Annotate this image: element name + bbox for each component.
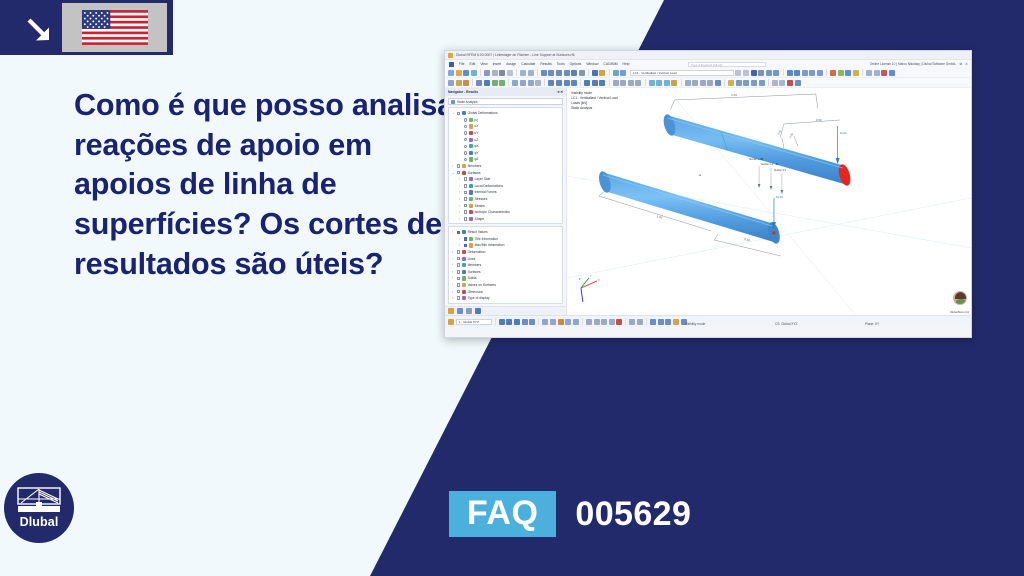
tree-item[interactable]: ›Result Values: [449, 229, 562, 236]
tree-item-icon: [469, 204, 473, 208]
window-controls[interactable]: — ⧉ ✕: [953, 62, 969, 66]
app-icon: [448, 53, 453, 58]
toolbar-icon-pan[interactable]: [773, 70, 779, 76]
tree-checkbox[interactable]: [464, 244, 468, 248]
tree-item[interactable]: φY: [449, 150, 562, 157]
tree-item[interactable]: ›Support Reactions: [449, 222, 562, 224]
tree-checkbox[interactable]: [457, 231, 461, 235]
toolbar-icon-list[interactable]: [556, 70, 562, 76]
tree-radio[interactable]: [464, 138, 467, 141]
menu-item-options[interactable]: Options: [570, 62, 582, 66]
toolbar-icon-iso[interactable]: [802, 70, 808, 76]
chevron-right-icon[interactable]: ›: [452, 276, 455, 280]
status-icon-select[interactable]: [558, 319, 564, 325]
navigator-panel: Navigator - Results ⇥ ✕ Static Analysis …: [445, 88, 567, 315]
tree-item[interactable]: ›Lines: [449, 255, 562, 262]
status-mode-label: Visibility mode: [685, 322, 705, 326]
toolbar2-icon-loadsurface[interactable]: [564, 80, 570, 86]
toolbar2-icon-info[interactable]: [795, 80, 801, 86]
tree-item-label: Stresses: [475, 197, 488, 201]
svg-text:1a: 1a: [698, 173, 701, 177]
tree-item-label: uZ: [474, 138, 478, 142]
toolbar2-icon-circle[interactable]: [772, 80, 778, 86]
status-icon-nurbs[interactable]: [609, 319, 615, 325]
toolbar2-icon-annotation[interactable]: [620, 80, 626, 86]
menu-item-window[interactable]: Window: [586, 62, 598, 66]
navigator-pin-close[interactable]: ⇥ ✕: [557, 90, 563, 94]
toolbar-separator: [544, 79, 545, 86]
avatar-caption: Dlubal Menu [m]: [950, 311, 969, 314]
toolbar-icon-front[interactable]: [817, 70, 823, 76]
toolbar-icon-settings[interactable]: [579, 70, 585, 76]
toolbar-icon-printout[interactable]: [571, 70, 577, 76]
toolbar-separator: [862, 69, 863, 76]
app-title: Dlubal RFEM 6.00.0007 | Linienlager an F…: [456, 53, 575, 57]
svg-text:X: X: [598, 278, 600, 282]
toolbar-icon-render[interactable]: [751, 70, 757, 76]
status-icon-snap[interactable]: [499, 319, 505, 325]
tree-item[interactable]: ›Type of display: [449, 295, 562, 302]
menu-item-results[interactable]: Results: [540, 62, 551, 66]
chevron-down-icon[interactable]: ⌄: [452, 171, 455, 175]
chevron-right-icon[interactable]: ›: [459, 197, 462, 201]
toolbar2-icon-loadline[interactable]: [556, 80, 562, 86]
tree-item-label: Result Values: [468, 230, 488, 234]
toolbar-icon-calculate[interactable]: [592, 70, 598, 76]
avatar-body: [955, 299, 967, 304]
toolbar2-icon-mesh[interactable]: [584, 80, 590, 86]
tree-checkbox[interactable]: [464, 204, 468, 208]
toolbar2-icon-pen[interactable]: [456, 80, 462, 86]
toolbar-icon-lc-up[interactable]: [735, 70, 741, 76]
toolbar2-icon-loadnode[interactable]: [548, 80, 554, 86]
toolbar-icon-clip[interactable]: [794, 70, 800, 76]
toolbar-icon-redo[interactable]: [528, 70, 534, 76]
toolbar-icon-export[interactable]: [507, 70, 513, 76]
tree-item-icon: [469, 184, 473, 188]
tree-item-label: Members: [468, 164, 482, 168]
chevron-right-icon[interactable]: ›: [452, 257, 455, 261]
chevron-right-icon[interactable]: ›: [452, 223, 455, 224]
toolbar-icon-color-c[interactable]: [845, 70, 851, 76]
us-flag-button[interactable]: [62, 3, 167, 52]
status-icon-view-c[interactable]: [665, 319, 671, 325]
user-avatar[interactable]: [953, 291, 967, 305]
cylinder-lower: [597, 170, 782, 245]
chevron-right-icon[interactable]: ›: [452, 250, 455, 254]
tree-item-label: Surfaces: [468, 171, 481, 175]
toolbar2-icon-array[interactable]: [715, 80, 721, 86]
menu-item-edit[interactable]: Edit: [469, 62, 475, 66]
status-icon-object-snap[interactable]: [522, 319, 528, 325]
toolbar2-icon-polygon[interactable]: [779, 80, 785, 86]
tree-item-icon: [469, 144, 473, 148]
toolbar-icon-load-next[interactable]: [620, 70, 626, 76]
tree-item-icon: [462, 296, 466, 300]
toolbar-icon-print[interactable]: [492, 70, 498, 76]
toolbar-icon-printer[interactable]: [499, 70, 505, 76]
toolbar-icon-undo[interactable]: [520, 70, 526, 76]
toolbar-icon-report[interactable]: [564, 70, 570, 76]
status-separator: [538, 318, 539, 325]
tree-item-label: Isotropic Characteristics: [475, 210, 510, 214]
toolbar-icon-saveas[interactable]: [471, 70, 477, 76]
toolbar-icon-print-preview[interactable]: [484, 70, 490, 76]
toolbar2-icon-copy[interactable]: [685, 80, 691, 86]
keyword-search-input[interactable]: Type a keyword (Alt+Q): [688, 62, 766, 67]
tree-item[interactable]: φX: [449, 143, 562, 150]
menu-item-calculate[interactable]: Calculate: [521, 62, 535, 66]
tree-item[interactable]: |u|: [449, 117, 562, 124]
chevron-right-icon[interactable]: ›: [452, 164, 455, 168]
faq-number: 005629: [575, 495, 691, 534]
toolbar2-icon-legend[interactable]: [736, 80, 742, 86]
arrow-down-right-icon: [24, 14, 54, 44]
tree-item[interactable]: ›Isotropic Characteristics: [449, 209, 562, 216]
axis-triad: X Y Z: [579, 274, 600, 302]
tree-top-container: ⌄Global Deformations|u|uXuYuZφXφYφZ›Memb…: [449, 110, 562, 224]
model-viewport[interactable]: Visibility mode LC1 - Vertikallast / Ver…: [567, 88, 971, 315]
menu-item-assign[interactable]: Assign: [506, 62, 516, 66]
tree-bottom-container: ›Result Values›Title Information›Max/Min…: [449, 229, 562, 302]
status-separator: [646, 318, 647, 325]
tree-item-label: φY: [474, 151, 478, 155]
toolbar2-icon-release[interactable]: [528, 80, 534, 86]
tree-item-icon: [462, 223, 466, 224]
status-icon-polar[interactable]: [529, 319, 535, 325]
status-icon-arc[interactable]: [594, 319, 600, 325]
model-3d-render: 1.00 0.50 0.50 0.50: [567, 88, 971, 315]
tree-item[interactable]: ›Deformation: [449, 249, 562, 256]
toolbar2-icon-scale[interactable]: [707, 80, 713, 86]
toolbar2-icon-pointer[interactable]: [448, 80, 454, 86]
cylinder-upper: [662, 113, 853, 187]
status-icon-view-a[interactable]: [650, 319, 656, 325]
toolbar-separator: [508, 79, 509, 86]
toolbar2-icon-meshrefine[interactable]: [592, 80, 598, 86]
chevron-right-icon[interactable]: ›: [459, 177, 462, 181]
status-plane-label: Plane: XY: [865, 322, 879, 326]
tree-item[interactable]: φZ: [449, 156, 562, 163]
tree-checkbox[interactable]: [457, 164, 461, 168]
tree-item-label: |u|: [474, 118, 478, 122]
tree-checkbox[interactable]: [464, 177, 468, 181]
tree-checkbox[interactable]: [457, 296, 461, 300]
chevron-right-icon[interactable]: ›: [452, 263, 455, 267]
tree-item[interactable]: ›Title Information: [449, 236, 562, 243]
avatar-hair: [955, 292, 967, 299]
status-icon-pick[interactable]: [565, 319, 571, 325]
toolbar2-icon-isolate[interactable]: [671, 80, 677, 86]
tree-radio[interactable]: [464, 125, 467, 128]
tree-item-icon: [469, 197, 473, 201]
tree-item-label: Support Reactions: [468, 223, 495, 224]
chevron-right-icon[interactable]: ›: [459, 243, 462, 247]
status-separator: [495, 318, 496, 325]
status-icon-view-d[interactable]: [673, 319, 679, 325]
us-flag-icon: [82, 10, 148, 45]
svg-text:0.50: 0.50: [788, 132, 794, 139]
tree-item[interactable]: ›Members: [449, 262, 562, 269]
tree-checkbox[interactable]: [464, 210, 468, 214]
tree-item-icon: [469, 138, 473, 142]
toolbar2-icon-animate[interactable]: [751, 80, 757, 86]
tree-item-icon: [469, 118, 473, 122]
status-separator: [582, 318, 583, 325]
chevron-right-icon[interactable]: ›: [459, 184, 462, 188]
tree-radio[interactable]: [464, 151, 467, 154]
chevron-right-icon[interactable]: ›: [452, 290, 455, 294]
toolbar-icon-ortho[interactable]: [874, 70, 880, 76]
toolbar-icon-save[interactable]: [463, 70, 469, 76]
chevron-right-icon[interactable]: ›: [459, 217, 462, 221]
toolbar2-icon-hide[interactable]: [656, 80, 662, 86]
status-icon-rotate[interactable]: [629, 319, 635, 325]
toolbar-separator: [472, 79, 473, 86]
status-icon-spline[interactable]: [601, 319, 607, 325]
tree-item[interactable]: ›Internal Forces: [449, 189, 562, 196]
main-toolbar-row2: [445, 78, 971, 88]
rfem-application-window: Dlubal RFEM 6.00.0007 | Linienlager an F…: [444, 50, 972, 338]
tree-checkbox[interactable]: [457, 290, 461, 294]
tree-item-icon: [462, 230, 466, 234]
toolbar2-icon-dimension[interactable]: [613, 80, 619, 86]
navigator-tabs: [445, 306, 566, 315]
tree-checkbox[interactable]: [457, 250, 461, 254]
status-icon-layer[interactable]: [542, 319, 548, 325]
main-toolbar-row1: LC1 - Vertikallast / Vertical Load: [445, 68, 971, 78]
tree-radio[interactable]: [464, 131, 467, 134]
tree-item[interactable]: ⌄Global Deformations: [449, 110, 562, 117]
toolbar2-icon-node[interactable]: [476, 80, 482, 86]
toolbar-separator: [609, 69, 610, 76]
tree-item[interactable]: uZ: [449, 136, 562, 143]
tab-project-navigator-icon[interactable]: [448, 308, 454, 314]
toolbar-separator: [783, 69, 784, 76]
tree-item[interactable]: uX: [449, 123, 562, 130]
tab-display-navigator-icon[interactable]: [457, 308, 463, 314]
tree-item[interactable]: ›Layer Side: [449, 176, 562, 183]
chevron-down-icon[interactable]: ⌄: [452, 111, 455, 115]
toolbar2-icon-diagram[interactable]: [759, 80, 765, 86]
svg-text:Section 1-1: Section 1-1: [749, 158, 762, 161]
toolbar-icon-zoom[interactable]: [766, 70, 772, 76]
tree-checkbox[interactable]: [457, 257, 461, 261]
toolbar2-icon-line[interactable]: [463, 80, 469, 86]
tree-item-icon: [469, 210, 473, 214]
tree-item-icon: [469, 190, 473, 194]
tree-checkbox[interactable]: [464, 191, 468, 195]
tree-item-icon: [469, 157, 473, 161]
tree-radio[interactable]: [464, 118, 467, 121]
toolbar-icon-open[interactable]: [456, 70, 462, 76]
toolbar2-icon-show-all[interactable]: [664, 80, 670, 86]
chevron-right-icon[interactable]: ›: [459, 237, 462, 241]
tree-item-icon: [469, 177, 473, 181]
tree-item[interactable]: ›Members: [449, 163, 562, 170]
toolbar2-icon-color-scale[interactable]: [728, 80, 734, 86]
chevron-right-icon[interactable]: ›: [459, 204, 462, 208]
toolbar2-icon-meshcheck[interactable]: [599, 80, 605, 86]
chevron-right-icon[interactable]: ›: [459, 210, 462, 214]
toolbar-icon-osnap[interactable]: [881, 70, 887, 76]
tree-item-icon: [469, 217, 473, 221]
toolbar-icon-section[interactable]: [787, 70, 793, 76]
menu-item-tools[interactable]: Tools: [557, 62, 565, 66]
tree-item-icon: [462, 250, 466, 254]
analysis-type-label: Static Analysis: [457, 100, 478, 104]
toolbar-icon-table[interactable]: [541, 70, 547, 76]
tree-item[interactable]: ›Surfaces: [449, 269, 562, 276]
chevron-right-icon[interactable]: ›: [452, 270, 455, 274]
toolbar-icon-color-d[interactable]: [853, 70, 859, 76]
status-icon-clip[interactable]: [573, 319, 579, 325]
tab-results-navigator-icon[interactable]: [475, 308, 481, 314]
toolbar-icon-grid-snap[interactable]: [866, 70, 872, 76]
toolbar2-icon-delete[interactable]: [787, 80, 793, 86]
tree-checkbox[interactable]: [457, 283, 461, 287]
tree-item[interactable]: ›Solids: [449, 275, 562, 282]
tree-item[interactable]: ⌄Surfaces: [449, 169, 562, 176]
tree-item-label: Surfaces: [468, 270, 481, 274]
status-icon-grid[interactable]: [506, 319, 512, 325]
toolbar2-icon-solid[interactable]: [499, 80, 505, 86]
chevron-right-icon[interactable]: ›: [452, 283, 455, 287]
status-icon-delete[interactable]: [616, 319, 622, 325]
toolbar2-icon-measure[interactable]: [628, 80, 634, 86]
tree-item[interactable]: ›Max/Min Information: [449, 242, 562, 249]
toolbar2-icon-bearing[interactable]: [535, 80, 541, 86]
faq-footer: FAQ 005629: [449, 491, 691, 537]
toolbar2-icon-loadfree[interactable]: [571, 80, 577, 86]
tree-item-icon: [469, 131, 473, 135]
status-icon-line-type[interactable]: [586, 319, 592, 325]
toolbar2-icon-surface[interactable]: [492, 80, 498, 86]
tree-checkbox[interactable]: [457, 270, 461, 274]
app-menubar: File Edit View Insert Assign Calculate R…: [445, 60, 971, 68]
tree-item-label: Title Information: [475, 237, 499, 241]
tree-radio[interactable]: [464, 145, 467, 148]
status-icon-view-b[interactable]: [658, 319, 664, 325]
tree-item[interactable]: ›Strains: [449, 202, 562, 209]
tree-item-icon: [469, 237, 473, 241]
toolbar-separator: [826, 69, 827, 76]
menu-item-cadbim[interactable]: CAD/BIM: [603, 62, 617, 66]
tree-item[interactable]: ›Stresses: [449, 196, 562, 203]
tree-checkbox[interactable]: [457, 277, 461, 281]
navigator-tree-results[interactable]: ⌄Global Deformations|u|uXuYuZφXφYφZ›Memb…: [448, 107, 563, 224]
tree-item-label: Dimension: [468, 290, 484, 294]
tree-item-label: Deformation: [468, 250, 486, 254]
svg-text:0.50: 0.50: [776, 129, 782, 136]
menu-item-insert[interactable]: Insert: [493, 62, 501, 66]
tree-item-label: Internal Forces: [475, 190, 497, 194]
tree-item-label: φZ: [474, 157, 478, 161]
menu-grip-icon: [449, 62, 454, 67]
tree-item[interactable]: uY: [449, 130, 562, 137]
dlubal-logo-text: Dlubal: [20, 515, 59, 529]
toolbar2-icon-deform[interactable]: [743, 80, 749, 86]
faq-badge: FAQ: [449, 491, 556, 537]
toolbar-icon-color-b[interactable]: [838, 70, 844, 76]
toolbar-icon-color-a[interactable]: [830, 70, 836, 76]
chevron-right-icon[interactable]: ›: [459, 190, 462, 194]
toolbar-separator: [768, 79, 769, 86]
tree-checkbox[interactable]: [464, 217, 468, 221]
tree-radio[interactable]: [464, 158, 467, 161]
tree-checkbox[interactable]: [457, 112, 461, 116]
tree-item-icon: [469, 151, 473, 155]
tree-item[interactable]: ›Dimension: [449, 288, 562, 295]
status-icon-zoom[interactable]: [637, 319, 643, 325]
tree-item[interactable]: ›Values on Surfaces: [449, 282, 562, 289]
tab-views-navigator-icon[interactable]: [466, 308, 472, 314]
tree-checkbox[interactable]: [457, 263, 461, 267]
toolbar2-icon-member[interactable]: [484, 80, 490, 86]
svg-text:Y: Y: [590, 274, 592, 278]
menu-item-help[interactable]: Help: [623, 62, 630, 66]
toolbar-icon-load-prev[interactable]: [613, 70, 619, 76]
tree-checkbox[interactable]: [457, 171, 461, 175]
coordinate-system-select[interactable]: 1 - Global XYZ: [456, 319, 492, 325]
tree-checkbox[interactable]: [464, 237, 468, 241]
truss-bridge-icon: [17, 487, 61, 513]
navigator-tree-display[interactable]: ›Result Values›Title Information›Max/Min…: [448, 226, 563, 304]
svg-text:Section 3-3: Section 3-3: [774, 169, 787, 172]
tree-checkbox[interactable]: [464, 197, 468, 201]
tree-item-icon: [469, 124, 473, 128]
chevron-right-icon[interactable]: ›: [452, 230, 455, 234]
analysis-type-select[interactable]: Static Analysis: [448, 98, 563, 105]
menu-item-file[interactable]: File: [459, 62, 464, 66]
chevron-right-icon[interactable]: ›: [452, 296, 455, 300]
question-title: Como é que posso analisar reações de apo…: [74, 86, 474, 284]
toolbar-icon-results[interactable]: [599, 70, 605, 76]
toolbar2-icon-mirror[interactable]: [692, 80, 698, 86]
tree-checkbox[interactable]: [464, 184, 468, 188]
toolbar2-icon-visibility[interactable]: [649, 80, 655, 86]
license-label: Online License 10 | Marco Nikolasy | Dlu…: [870, 62, 955, 66]
load-case-select[interactable]: LC1 - Vertikallast / Vertical Load: [630, 70, 734, 76]
tree-item-icon: [462, 276, 466, 280]
toolbar-icon-lc-down[interactable]: [743, 70, 749, 76]
tree-item-label: Values on Surfaces: [468, 283, 496, 287]
tree-item[interactable]: ›Local Deformations: [449, 183, 562, 190]
toolbar2-icon-support[interactable]: [512, 80, 518, 86]
menu-item-view[interactable]: View: [480, 62, 487, 66]
toolbar-icon-new[interactable]: [448, 70, 454, 76]
toolbar-icon-layers[interactable]: [889, 70, 895, 76]
toolbar-icon-grid[interactable]: [548, 70, 554, 76]
tree-item-icon: [462, 290, 466, 294]
tree-item-label: Max/Min Information: [475, 243, 505, 247]
status-icon-cs[interactable]: [448, 319, 454, 325]
toolbar-separator: [537, 69, 538, 76]
svg-text:Z: Z: [579, 277, 581, 281]
tree-item-icon: [462, 171, 466, 175]
toolbar-icon-wireframe[interactable]: [758, 70, 764, 76]
toolbar2-icon-rotate[interactable]: [700, 80, 706, 86]
svg-text:10.00: 10.00: [840, 131, 847, 135]
status-icon-filter[interactable]: [550, 319, 556, 325]
svg-text:0.50: 0.50: [816, 118, 822, 122]
tree-item-icon: [462, 270, 466, 274]
tree-item[interactable]: ›Shape: [449, 216, 562, 223]
toolbar2-icon-hinge[interactable]: [520, 80, 526, 86]
status-icon-ortho[interactable]: [514, 319, 520, 325]
toolbar2-icon-text[interactable]: [635, 80, 641, 86]
toolbar-icon-top[interactable]: [809, 70, 815, 76]
